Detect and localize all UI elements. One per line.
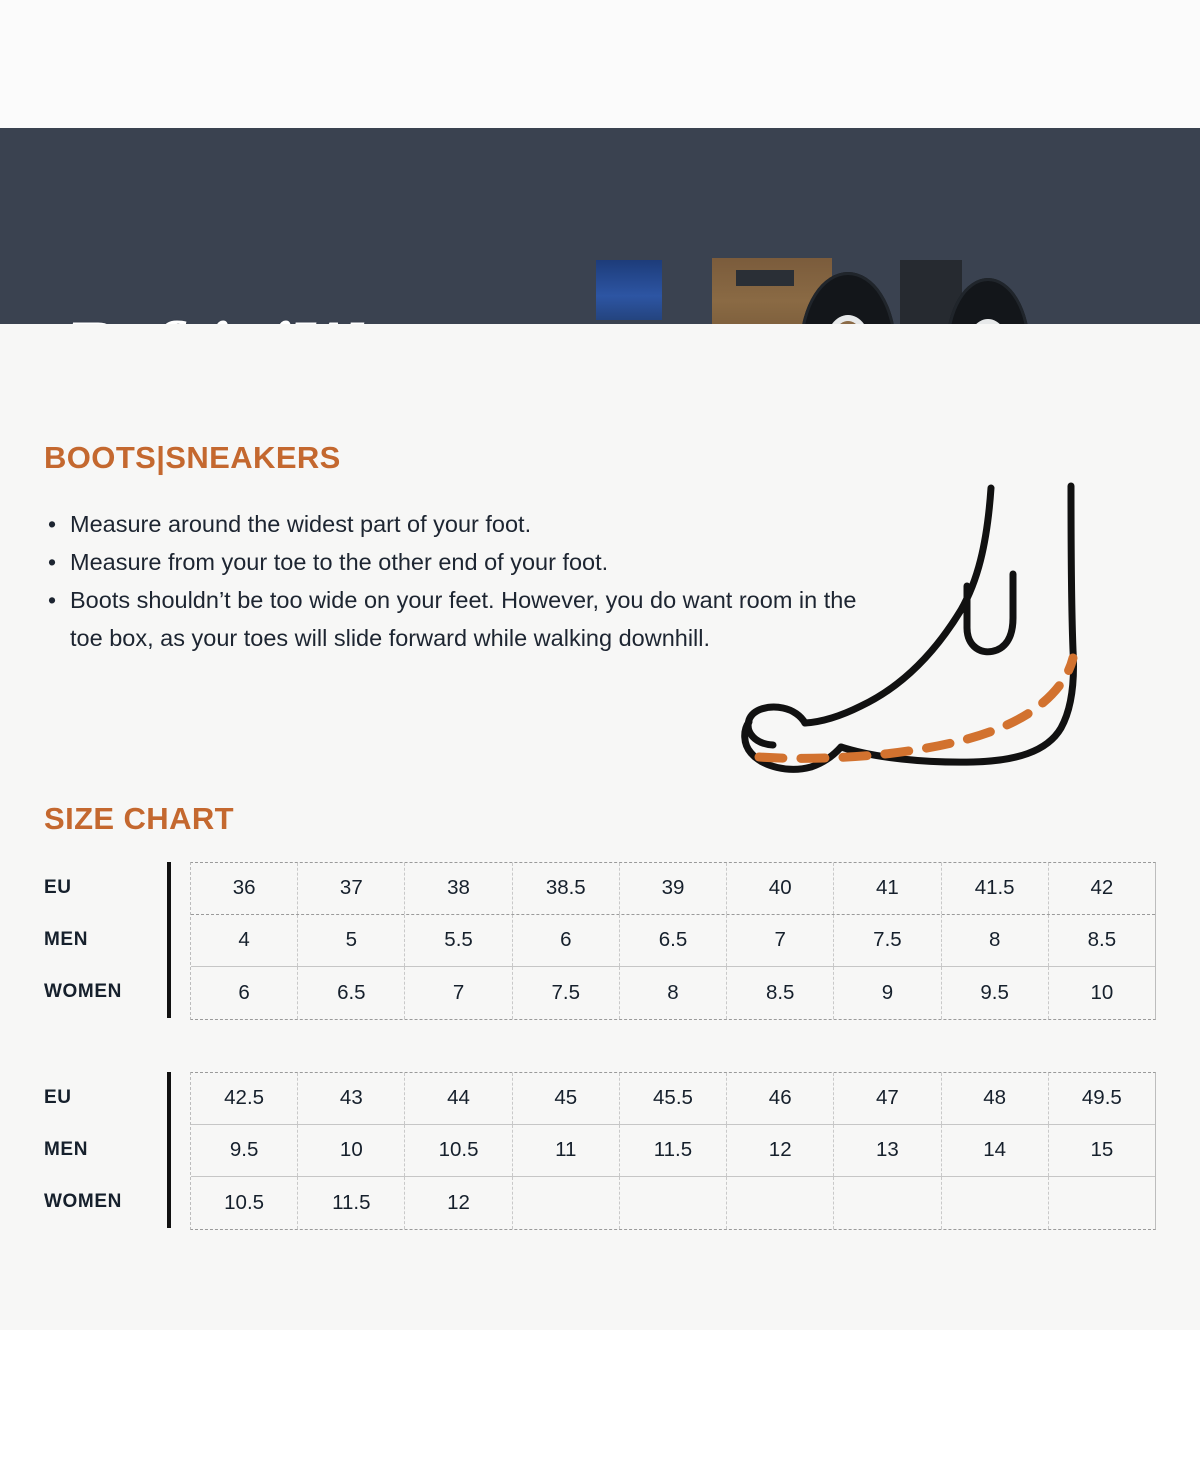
measurement-dashed-line — [759, 658, 1073, 758]
table-row: 42.5 43 44 45 45.5 46 47 48 49.5 — [191, 1073, 1155, 1125]
cell-women: 11.5 — [298, 1177, 405, 1229]
cell-women: 9.5 — [942, 967, 1049, 1019]
size-grid: 36 37 38 38.5 39 40 41 41.5 42 4 5 5.5 6… — [190, 862, 1156, 1020]
label-divider-rule — [167, 862, 171, 1018]
size-chart-heading: SIZE CHART — [44, 801, 234, 837]
cell-eu: 47 — [834, 1073, 941, 1124]
cell-eu: 46 — [727, 1073, 834, 1124]
cell-eu: 37 — [298, 863, 405, 914]
cell-women — [834, 1177, 941, 1229]
cell-eu: 45.5 — [620, 1073, 727, 1124]
cell-men: 7.5 — [834, 915, 941, 966]
cell-men: 8.5 — [1049, 915, 1155, 966]
cell-men: 6 — [513, 915, 620, 966]
foot-outline-icon — [715, 470, 1185, 790]
cell-women: 6 — [191, 967, 298, 1019]
row-label-women: WOMEN — [44, 1176, 167, 1228]
cell-men: 10 — [298, 1125, 405, 1176]
cell-women: 12 — [405, 1177, 512, 1229]
cell-men: 9.5 — [191, 1125, 298, 1176]
size-chart-page: RefrigiWear® BOOTS|SNEAKERS Measure arou… — [0, 0, 1200, 1465]
row-label-eu: EU — [44, 1072, 167, 1124]
table-row: 9.5 10 10.5 11 11.5 12 13 14 15 — [191, 1125, 1155, 1177]
top-white-strip — [0, 0, 1200, 128]
cell-eu: 40 — [727, 863, 834, 914]
cell-men: 15 — [1049, 1125, 1155, 1176]
foot-top-line — [805, 488, 991, 723]
row-label-men: MEN — [44, 914, 167, 966]
cell-eu: 48 — [942, 1073, 1049, 1124]
table-row: 4 5 5.5 6 6.5 7 7.5 8 8.5 — [191, 915, 1155, 967]
cell-men: 7 — [727, 915, 834, 966]
row-label-eu: EU — [44, 862, 167, 914]
cell-women — [513, 1177, 620, 1229]
cell-men: 11 — [513, 1125, 620, 1176]
cell-eu: 42.5 — [191, 1073, 298, 1124]
cell-women: 10 — [1049, 967, 1155, 1019]
foot-measurement-illustration — [715, 470, 1185, 790]
cell-men: 12 — [727, 1125, 834, 1176]
cell-women: 8 — [620, 967, 727, 1019]
cell-eu: 42 — [1049, 863, 1155, 914]
cell-women: 7 — [405, 967, 512, 1019]
cell-eu: 41 — [834, 863, 941, 914]
cell-women: 7.5 — [513, 967, 620, 1019]
table-row: 10.5 11.5 12 — [191, 1177, 1155, 1229]
cell-men: 11.5 — [620, 1125, 727, 1176]
label-divider-rule — [167, 1072, 171, 1228]
cell-eu: 44 — [405, 1073, 512, 1124]
cell-men: 8 — [942, 915, 1049, 966]
cell-men: 5.5 — [405, 915, 512, 966]
cell-women: 10.5 — [191, 1177, 298, 1229]
size-table-1: EU MEN WOMEN 36 37 38 38.5 39 40 41 41.5… — [44, 862, 1156, 1018]
row-label-column: EU MEN WOMEN — [44, 1072, 167, 1228]
tractor-window — [736, 270, 794, 286]
cell-eu: 49.5 — [1049, 1073, 1155, 1124]
cell-eu: 45 — [513, 1073, 620, 1124]
brand-logo-text: RefrigiWear — [66, 311, 459, 324]
big-toe-loop — [748, 707, 805, 745]
header-banner: RefrigiWear® — [0, 128, 1200, 324]
cell-eu: 38 — [405, 863, 512, 914]
cell-eu: 43 — [298, 1073, 405, 1124]
cell-eu: 39 — [620, 863, 727, 914]
cell-men: 4 — [191, 915, 298, 966]
toe-underside — [745, 722, 841, 769]
cell-women — [727, 1177, 834, 1229]
cell-eu: 41.5 — [942, 863, 1049, 914]
cell-men: 13 — [834, 1125, 941, 1176]
row-label-women: WOMEN — [44, 966, 167, 1018]
sole-and-heel-line — [841, 486, 1074, 762]
cell-men: 10.5 — [405, 1125, 512, 1176]
row-label-men: MEN — [44, 1124, 167, 1176]
cell-men: 5 — [298, 915, 405, 966]
cell-women — [620, 1177, 727, 1229]
cell-men: 6.5 — [620, 915, 727, 966]
cell-men: 14 — [942, 1125, 1049, 1176]
operator-figure — [596, 260, 662, 320]
size-table-2: EU MEN WOMEN 42.5 43 44 45 45.5 46 47 48… — [44, 1072, 1156, 1228]
table-row: 6 6.5 7 7.5 8 8.5 9 9.5 10 — [191, 967, 1155, 1019]
cell-women — [942, 1177, 1049, 1229]
cell-eu: 36 — [191, 863, 298, 914]
boots-sneakers-heading: BOOTS|SNEAKERS — [44, 440, 341, 476]
row-label-column: EU MEN WOMEN — [44, 862, 167, 1018]
cell-women: 9 — [834, 967, 941, 1019]
cell-women — [1049, 1177, 1155, 1229]
cell-women: 8.5 — [727, 967, 834, 1019]
brand-logo: RefrigiWear® — [66, 316, 475, 324]
size-grid: 42.5 43 44 45 45.5 46 47 48 49.5 9.5 10 … — [190, 1072, 1156, 1230]
cell-eu: 38.5 — [513, 863, 620, 914]
table-row: 36 37 38 38.5 39 40 41 41.5 42 — [191, 863, 1155, 915]
snow-plow-photo — [0, 128, 1200, 324]
cell-women: 6.5 — [298, 967, 405, 1019]
